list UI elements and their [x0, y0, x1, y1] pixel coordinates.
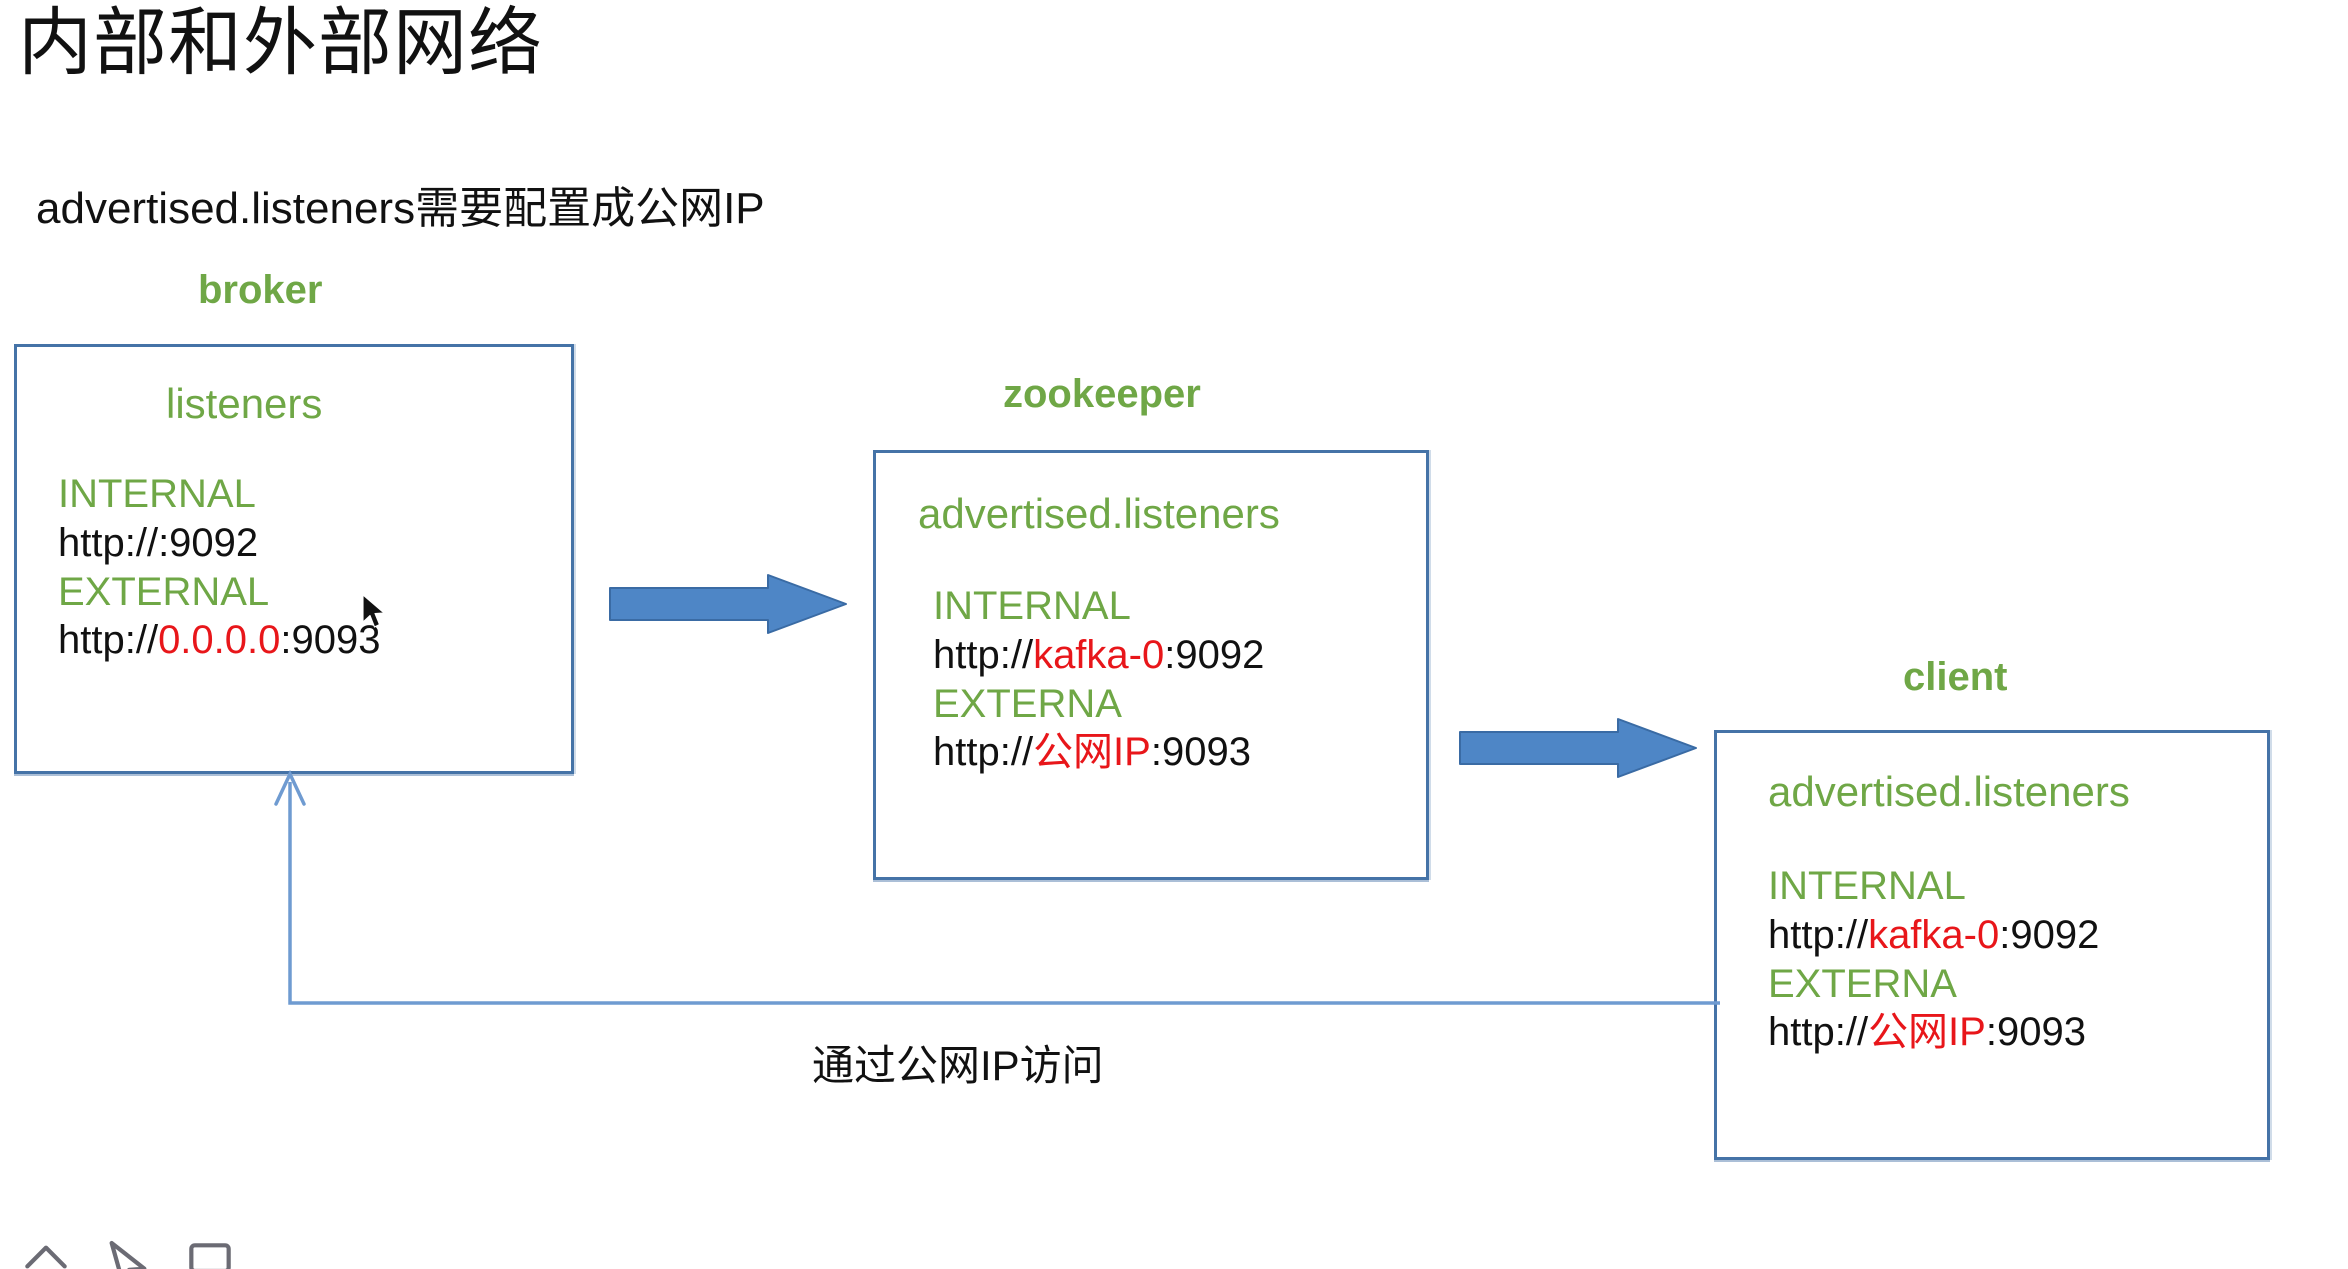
client-heading: advertised.listeners: [1768, 768, 2130, 816]
zookeeper-caption: zookeeper: [1003, 372, 1201, 417]
zookeeper-listener-0-url: http://kafka-0:9092: [933, 631, 1264, 680]
client-listener-0-url: http://kafka-0:9092: [1768, 911, 2099, 960]
feedback-connector-icon: [260, 760, 1720, 1020]
broker-listener-1-url: http://0.0.0.0:9093: [58, 616, 381, 665]
client-listener-1-url: http://公网IP:9093: [1768, 1008, 2099, 1057]
zookeeper-listener-0-name: INTERNAL: [933, 582, 1264, 631]
url-scheme: http://: [1768, 1010, 1868, 1054]
broker-heading: listeners: [166, 380, 322, 428]
url-host: kafka-0: [1033, 633, 1164, 677]
client-listener-list: INTERNAL http://kafka-0:9092 EXTERNA htt…: [1768, 862, 2099, 1057]
url-scheme: http://: [1768, 913, 1868, 957]
url-host: kafka-0: [1868, 913, 1999, 957]
zookeeper-listener-list: INTERNAL http://kafka-0:9092 EXTERNA htt…: [933, 582, 1264, 777]
bottom-toolbar: [18, 1229, 238, 1269]
broker-listener-1-name: EXTERNAL: [58, 568, 381, 617]
client-listener-0-name: INTERNAL: [1768, 862, 2099, 911]
url-scheme: http://: [58, 618, 158, 662]
broker-listener-0-name: INTERNAL: [58, 470, 381, 519]
broker-listener-0-url: http://:9092: [58, 519, 381, 568]
broker-listener-list: INTERNAL http://:9092 EXTERNAL http://0.…: [58, 470, 381, 665]
zookeeper-listener-1-name: EXTERNA: [933, 680, 1264, 729]
client-listener-1-name: EXTERNA: [1768, 960, 2099, 1009]
url-port: :9092: [158, 521, 258, 565]
page-subtitle: advertised.listeners需要配置成公网IP: [36, 185, 765, 233]
client-caption: client: [1903, 655, 2007, 700]
url-scheme: http://: [933, 633, 1033, 677]
rectangle-icon[interactable]: [182, 1229, 238, 1269]
page-title: 内部和外部网络: [18, 4, 543, 82]
url-host: 0.0.0.0: [158, 618, 280, 662]
url-port: :9092: [1164, 633, 1264, 677]
url-scheme: http://: [58, 521, 158, 565]
url-port: :9093: [1986, 1010, 2086, 1054]
broker-caption: broker: [198, 268, 323, 313]
cursor-arrow-icon[interactable]: [100, 1229, 156, 1269]
chevron-up-icon[interactable]: [18, 1229, 74, 1269]
zookeeper-heading: advertised.listeners: [918, 490, 1280, 538]
arrow-broker-to-zookeeper-icon: [608, 572, 848, 636]
slide-canvas: 内部和外部网络 advertised.listeners需要配置成公网IP br…: [0, 0, 2348, 1269]
mouse-pointer-icon: [362, 594, 388, 632]
feedback-connector-label: 通过公网IP访问: [812, 1032, 1104, 1093]
url-host: 公网IP: [1868, 1010, 1986, 1054]
url-port: :9092: [1999, 913, 2099, 957]
